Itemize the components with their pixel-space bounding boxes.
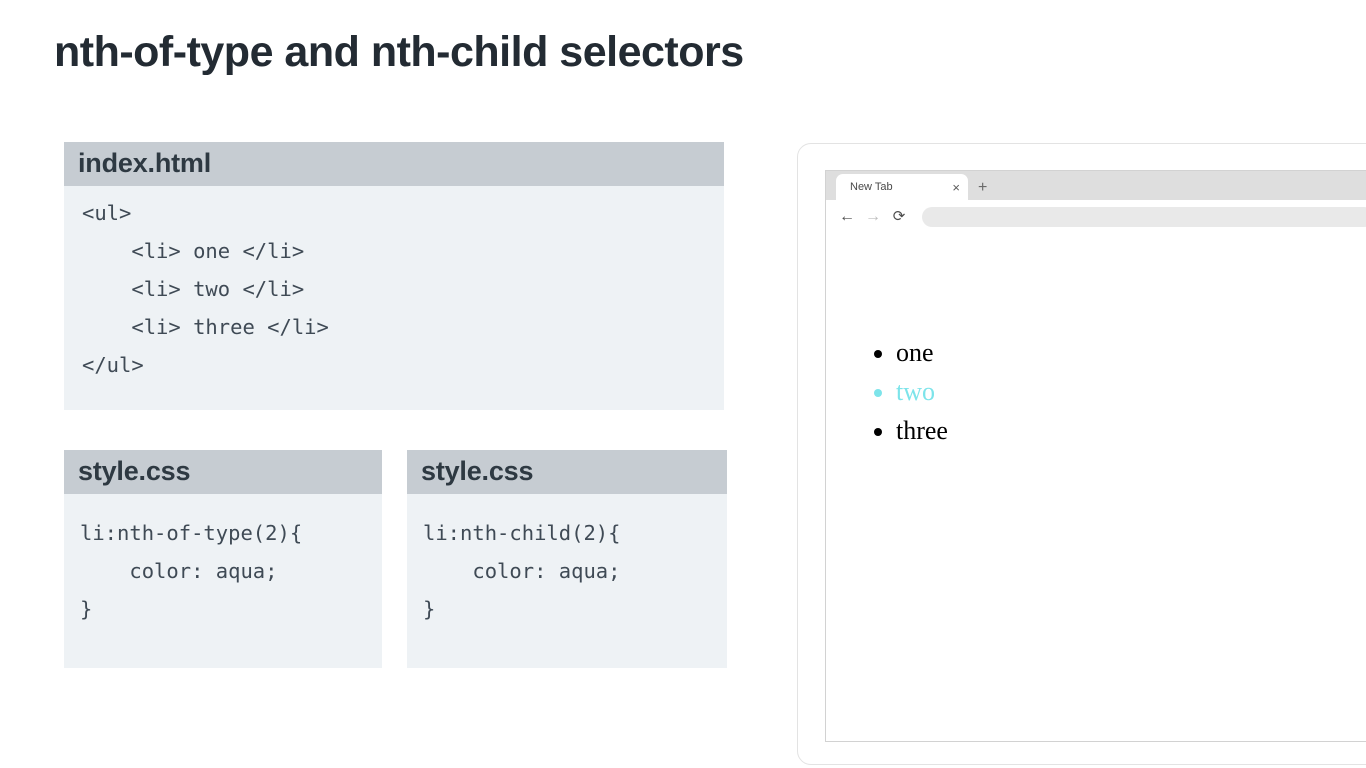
list-item: three xyxy=(896,411,1366,450)
code-block-nth-of-type: li:nth-of-type(2){ color: aqua; } xyxy=(64,494,382,628)
reload-icon[interactable]: ⟳ xyxy=(886,204,912,230)
code-card-index-html: index.html <ul> <li> one </li> <li> two … xyxy=(64,142,724,410)
rendered-unordered-list: one two three xyxy=(826,333,1366,450)
code-card-filename: index.html xyxy=(64,142,724,186)
page-title: nth-of-type and nth-child selectors xyxy=(54,28,744,77)
list-item: one xyxy=(896,333,1366,372)
code-card-style-css-nth-child: style.css li:nth-child(2){ color: aqua; … xyxy=(407,450,727,668)
list-item: two xyxy=(896,372,1366,411)
browser-tab-title: New Tab xyxy=(850,181,944,193)
browser-tab-strip: New Tab × + xyxy=(826,171,1366,200)
back-arrow-icon[interactable]: ← xyxy=(834,204,860,230)
forward-arrow-icon[interactable]: → xyxy=(860,204,886,230)
code-block-index-html: <ul> <li> one </li> <li> two </li> <li> … xyxy=(64,186,724,384)
code-card-filename: style.css xyxy=(407,450,727,494)
plus-icon[interactable]: + xyxy=(978,180,987,200)
close-icon[interactable]: × xyxy=(952,181,960,194)
browser-window: New Tab × + ← → ⟳ one two three xyxy=(825,170,1366,742)
browser-tab[interactable]: New Tab × xyxy=(836,174,968,200)
address-bar-input[interactable] xyxy=(922,207,1366,227)
browser-toolbar: ← → ⟳ xyxy=(826,200,1366,233)
code-block-nth-child: li:nth-child(2){ color: aqua; } xyxy=(407,494,727,628)
code-card-style-css-nth-of-type: style.css li:nth-of-type(2){ color: aqua… xyxy=(64,450,382,668)
code-card-filename: style.css xyxy=(64,450,382,494)
browser-viewport: one two three xyxy=(826,233,1366,742)
